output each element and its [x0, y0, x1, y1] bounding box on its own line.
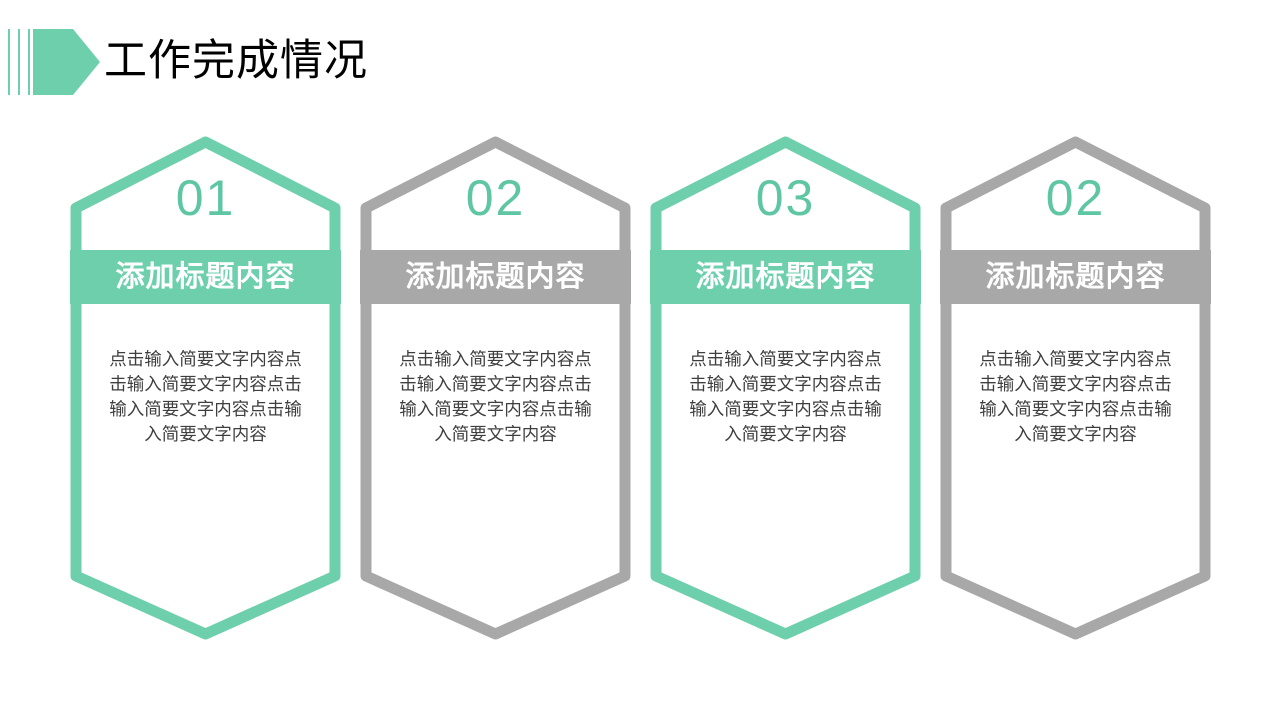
card-title-text: 添加标题内容: [405, 260, 585, 294]
card-number: 03: [650, 170, 921, 226]
info-card[interactable]: 01 添加标题内容 点击输入简要文字内容点击输入简要文字内容点击输入简要文字内容…: [70, 136, 341, 640]
info-card[interactable]: 03 添加标题内容 点击输入简要文字内容点击输入简要文字内容点击输入简要文字内容…: [650, 136, 921, 640]
card-body-text: 点击输入简要文字内容点击输入简要文字内容点击输入简要文字内容点击输入简要文字内容: [393, 348, 598, 448]
accent-rule-3: [28, 29, 30, 95]
info-card[interactable]: 02 添加标题内容 点击输入简要文字内容点击输入简要文字内容点击输入简要文字内容…: [940, 136, 1211, 640]
slide-header: 工作完成情况: [0, 0, 1280, 120]
card-title-band: 添加标题内容: [650, 250, 921, 304]
card-number: 01: [70, 170, 341, 226]
info-card[interactable]: 02 添加标题内容 点击输入简要文字内容点击输入简要文字内容点击输入简要文字内容…: [360, 136, 631, 640]
card-body-text: 点击输入简要文字内容点击输入简要文字内容点击输入简要文字内容点击输入简要文字内容: [103, 348, 308, 448]
page-title: 工作完成情况: [104, 30, 368, 92]
accent-rule-1: [8, 29, 10, 95]
card-title-text: 添加标题内容: [985, 260, 1165, 294]
cards-row: 01 添加标题内容 点击输入简要文字内容点击输入简要文字内容点击输入简要文字内容…: [70, 136, 1210, 640]
card-title-band: 添加标题内容: [940, 250, 1211, 304]
card-title-band: 添加标题内容: [360, 250, 631, 304]
card-body-text: 点击输入简要文字内容点击输入简要文字内容点击输入简要文字内容点击输入简要文字内容: [683, 348, 888, 448]
card-number: 02: [360, 170, 631, 226]
card-title-band: 添加标题内容: [70, 250, 341, 304]
card-number: 02: [940, 170, 1211, 226]
pentagon-arrow-icon: [33, 29, 100, 95]
card-body-text: 点击输入简要文字内容点击输入简要文字内容点击输入简要文字内容点击输入简要文字内容: [973, 348, 1178, 448]
card-title-text: 添加标题内容: [695, 260, 875, 294]
card-title-text: 添加标题内容: [115, 260, 295, 294]
accent-rule-2: [18, 29, 20, 95]
